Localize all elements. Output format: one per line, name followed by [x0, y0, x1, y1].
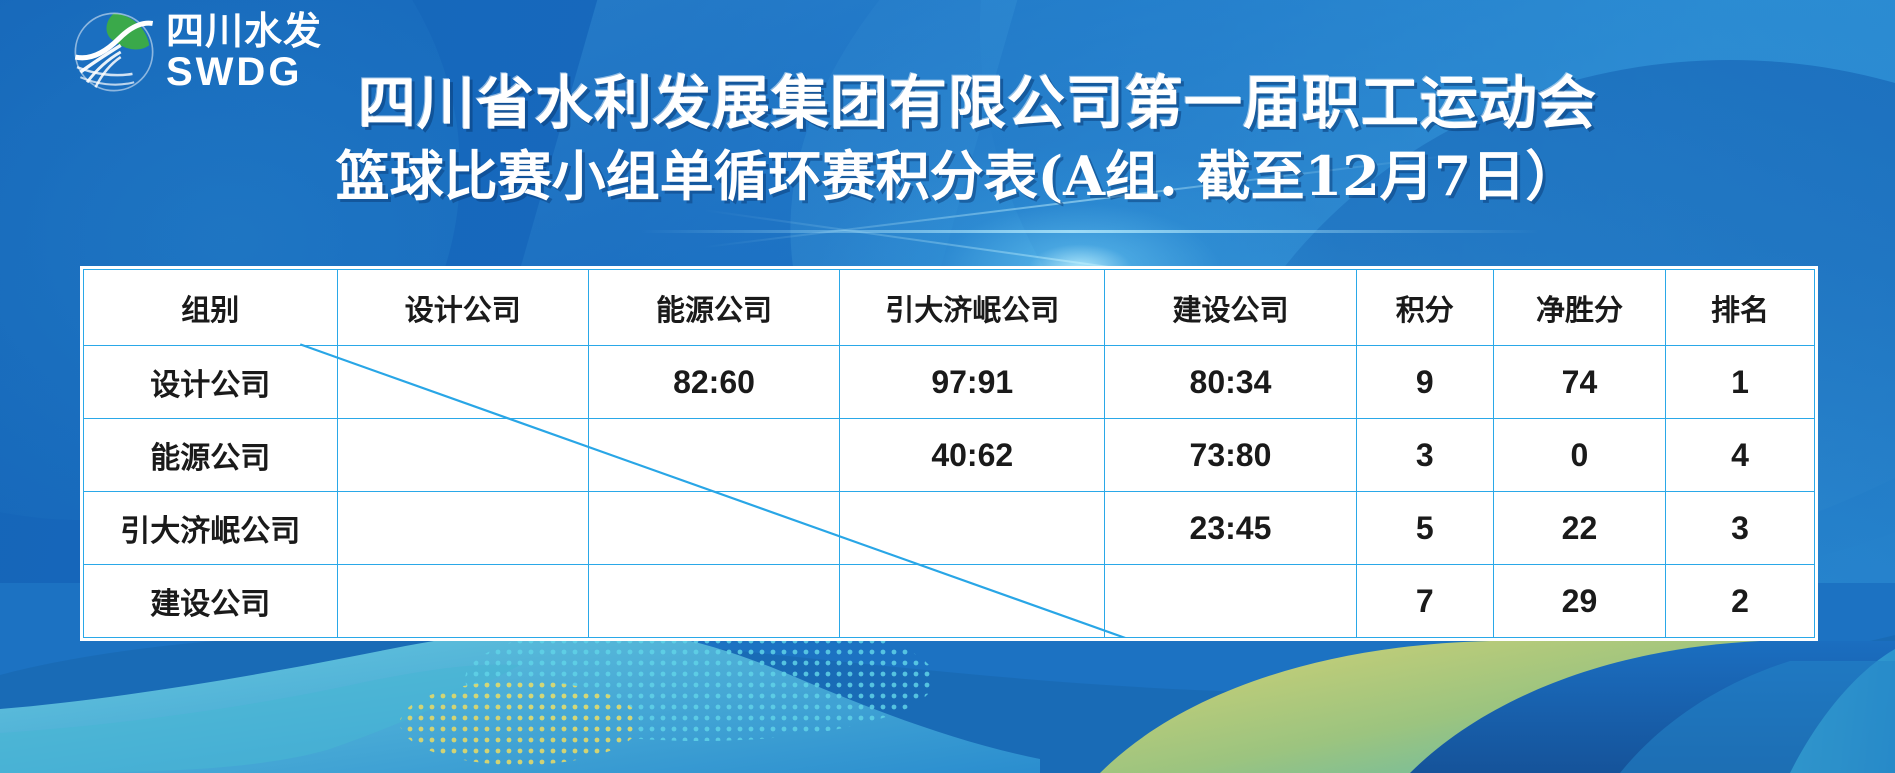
logo-chinese-name: 四川水发 [166, 12, 322, 50]
cell-point-diff: 22 [1493, 492, 1665, 565]
row-team-name: 建设公司 [84, 565, 338, 638]
poster-root: 四川水发 SWDG 四川省水利发展集团有限公司第一届职工运动会 篮球比赛小组单循… [0, 0, 1895, 773]
table-row: 设计公司 82:60 97:91 80:34 9 74 1 [84, 346, 1815, 419]
cell-vs-energy [588, 565, 839, 638]
table-row: 能源公司 40:62 73:80 3 0 4 [84, 419, 1815, 492]
standings-table: 组别 设计公司 能源公司 引大济岷公司 建设公司 积分 净胜分 排名 设计公司 … [83, 269, 1815, 638]
col-header-yindajimin: 引大济岷公司 [840, 270, 1105, 346]
col-header-design: 设计公司 [337, 270, 588, 346]
cell-vs-construction: 73:80 [1105, 419, 1356, 492]
cell-rank: 2 [1666, 565, 1815, 638]
cell-vs-yindajimin [840, 565, 1105, 638]
col-header-points: 积分 [1356, 270, 1493, 346]
cell-vs-yindajimin: 40:62 [840, 419, 1105, 492]
cell-point-diff: 29 [1493, 565, 1665, 638]
row-team-name: 能源公司 [84, 419, 338, 492]
poster-subtitle: 篮球比赛小组单循环赛积分表(A组. 截至12月7日） [0, 132, 1895, 211]
background-light-ray [640, 230, 1540, 233]
cell-points: 9 [1356, 346, 1493, 419]
cell-rank: 4 [1666, 419, 1815, 492]
table-row: 引大济岷公司 23:45 5 22 3 [84, 492, 1815, 565]
cell-point-diff: 0 [1493, 419, 1665, 492]
cell-vs-yindajimin: 97:91 [840, 346, 1105, 419]
cell-points: 3 [1356, 419, 1493, 492]
cell-vs-design [337, 346, 588, 419]
cell-vs-energy [588, 492, 839, 565]
cell-vs-construction [1105, 565, 1356, 638]
standings-table-container: 组别 设计公司 能源公司 引大济岷公司 建设公司 积分 净胜分 排名 设计公司 … [80, 266, 1818, 641]
cell-vs-energy [588, 419, 839, 492]
col-header-group: 组别 [84, 270, 338, 346]
col-header-rank: 排名 [1666, 270, 1815, 346]
table-header-row: 组别 设计公司 能源公司 引大济岷公司 建设公司 积分 净胜分 排名 [84, 270, 1815, 346]
cell-vs-energy: 82:60 [588, 346, 839, 419]
row-team-name: 设计公司 [84, 346, 338, 419]
row-team-name: 引大济岷公司 [84, 492, 338, 565]
cell-vs-construction: 23:45 [1105, 492, 1356, 565]
cell-vs-design [337, 565, 588, 638]
cell-rank: 1 [1666, 346, 1815, 419]
poster-main-title: 四川省水利发展集团有限公司第一届职工运动会 [0, 56, 1895, 140]
cell-points: 7 [1356, 565, 1493, 638]
cell-rank: 3 [1666, 492, 1815, 565]
cell-vs-design [337, 492, 588, 565]
cell-vs-design [337, 419, 588, 492]
cell-point-diff: 74 [1493, 346, 1665, 419]
cell-vs-construction: 80:34 [1105, 346, 1356, 419]
table-row: 建设公司 7 29 2 [84, 565, 1815, 638]
col-header-construction: 建设公司 [1105, 270, 1356, 346]
cell-vs-yindajimin [840, 492, 1105, 565]
col-header-energy: 能源公司 [588, 270, 839, 346]
col-header-point-diff: 净胜分 [1493, 270, 1665, 346]
cell-points: 5 [1356, 492, 1493, 565]
